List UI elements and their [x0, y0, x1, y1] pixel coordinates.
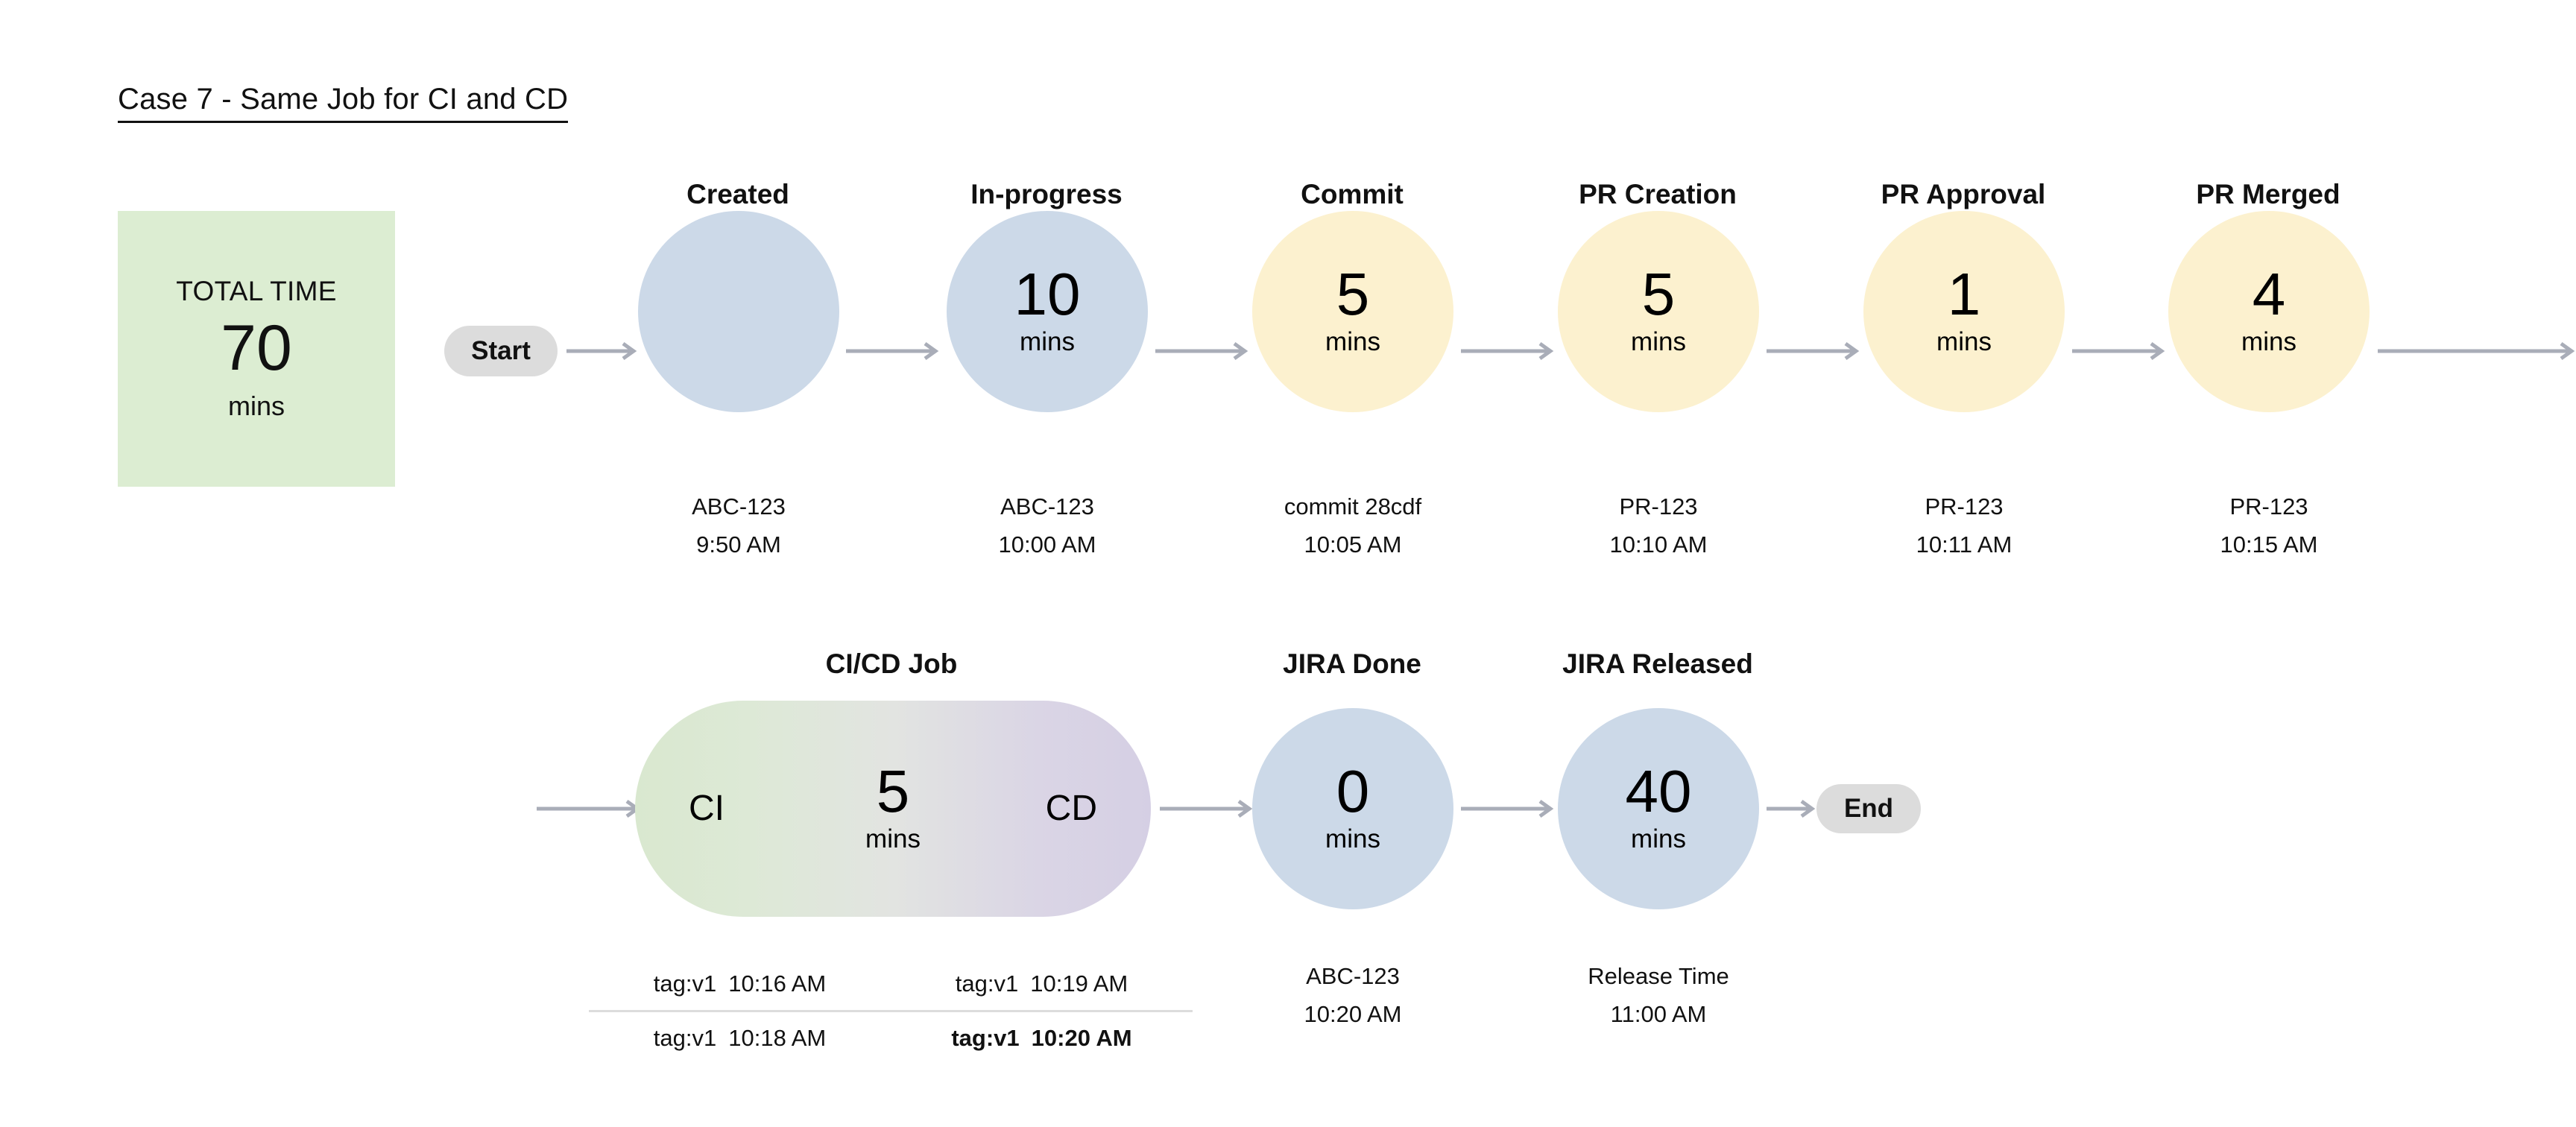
tag-cell: tag:v1 10:18 AM	[589, 1025, 891, 1052]
cicd-duration: 5 mins	[865, 763, 921, 854]
tag-name: tag:v1	[956, 970, 1018, 997]
node-title: PR Merged	[2074, 179, 2462, 210]
end-pill[interactable]: End	[1816, 784, 1921, 833]
cicd-unit: mins	[865, 824, 921, 854]
total-time-label: TOTAL TIME	[176, 276, 336, 307]
flow-arrow-wrap-out	[2378, 341, 2576, 361]
total-time-card: TOTAL TIME 70 mins	[118, 211, 395, 487]
node-unit: mins	[2241, 327, 2296, 357]
tag-time: 10:20 AM	[1032, 1025, 1132, 1052]
cicd-value: 5	[877, 763, 910, 820]
node-unit: mins	[1325, 824, 1380, 854]
node-bubble[interactable]: 4 mins	[2168, 211, 2370, 412]
node-bubble[interactable]: 40 mins	[1558, 708, 1759, 909]
node-value: 5	[1336, 266, 1370, 323]
total-time-value: 70	[221, 318, 292, 379]
node-bubble[interactable]: 10 mins	[947, 211, 1148, 412]
node-meta-line1: ABC-123	[1306, 963, 1400, 989]
cicd-job-capsule[interactable]: CI 5 mins CD	[635, 701, 1151, 917]
node-meta-line1: PR-123	[1925, 493, 2003, 520]
node-meta-line1: ABC-123	[692, 493, 786, 520]
node-meta-line2: 10:15 AM	[2060, 525, 2478, 563]
node-unit: mins	[1631, 824, 1686, 854]
node-unit: mins	[1020, 327, 1075, 357]
flow-arrow-wrap-in	[537, 799, 641, 818]
node-value: 1	[1948, 266, 1981, 323]
flow-arrow	[846, 341, 939, 361]
flow-arrow	[1767, 799, 1816, 818]
node-title: JIRA Released	[1464, 648, 1851, 680]
tag-name: tag:v1	[654, 970, 716, 997]
tag-row: tag:v1 10:18 AM tag:v1 10:20 AM	[589, 1012, 1193, 1064]
tag-row: tag:v1 10:16 AM tag:v1 10:19 AM	[589, 958, 1193, 1010]
node-meta-line1: commit 28cdf	[1284, 493, 1421, 520]
node-meta: PR-123 10:15 AM	[2060, 487, 2478, 563]
flow-arrow	[1767, 341, 1860, 361]
node-value: 5	[1642, 266, 1676, 323]
tag-time: 10:19 AM	[1030, 970, 1128, 997]
node-unit: mins	[1936, 327, 1992, 357]
node-value: 10	[1014, 266, 1081, 323]
tag-time: 10:18 AM	[728, 1025, 826, 1052]
node-meta-line1: PR-123	[2229, 493, 2308, 520]
node-unit: mins	[1631, 327, 1686, 357]
flow-arrow	[2072, 341, 2165, 361]
page-title: Case 7 - Same Job for CI and CD	[118, 83, 568, 123]
start-pill[interactable]: Start	[444, 326, 558, 376]
tag-name: tag:v1	[654, 1025, 716, 1052]
node-title: CI/CD Job	[698, 648, 1085, 680]
flow-arrow	[1155, 341, 1248, 361]
node-value: 40	[1626, 763, 1692, 820]
node-meta-line1: PR-123	[1619, 493, 1697, 520]
node-meta-line1: Release Time	[1588, 963, 1729, 989]
node-bubble[interactable]: 5 mins	[1252, 211, 1453, 412]
tag-name: tag:v1	[951, 1025, 1019, 1052]
flow-arrow	[1160, 799, 1253, 818]
node-bubble[interactable]: 5 mins	[1558, 211, 1759, 412]
node-meta-line1: ABC-123	[1000, 493, 1094, 520]
cicd-left-label: CI	[689, 791, 724, 827]
node-bubble[interactable]: 1 mins	[1863, 211, 2065, 412]
cicd-tag-table: tag:v1 10:16 AM tag:v1 10:19 AM tag:v1 1…	[589, 958, 1193, 1064]
node-value: 0	[1336, 763, 1370, 820]
cicd-right-label: CD	[1046, 791, 1097, 827]
flow-arrow	[1461, 799, 1554, 818]
node-bubble[interactable]: 0 mins	[1252, 708, 1453, 909]
node-meta-line2: 11:00 AM	[1450, 995, 1867, 1033]
tag-time: 10:16 AM	[728, 970, 826, 997]
total-time-unit: mins	[228, 391, 285, 422]
flow-arrow	[566, 341, 637, 361]
tag-cell: tag:v1 10:16 AM	[589, 970, 891, 997]
diagram-canvas: Case 7 - Same Job for CI and CD TOTAL TI…	[0, 0, 2576, 1127]
node-bubble[interactable]	[638, 211, 839, 412]
node-unit: mins	[1325, 327, 1380, 357]
node-value: 4	[2253, 266, 2286, 323]
node-meta: Release Time 11:00 AM	[1450, 957, 1867, 1033]
flow-arrow	[1461, 341, 1554, 361]
